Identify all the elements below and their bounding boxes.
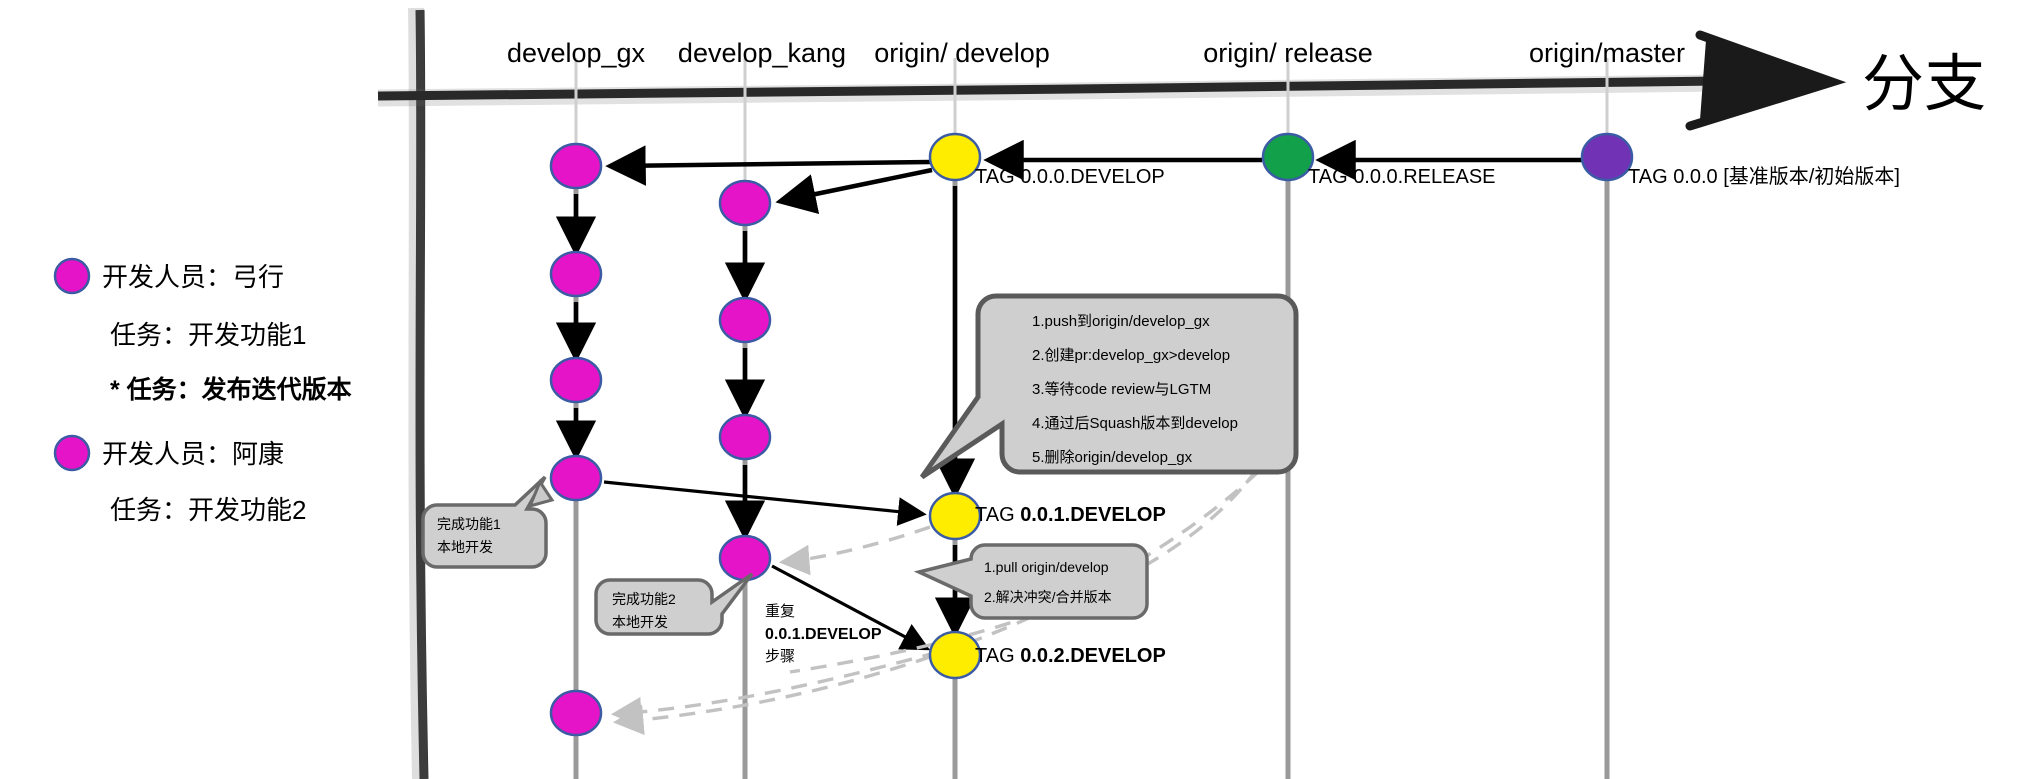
lane-label-develop-kang: develop_kang [678, 38, 846, 68]
callout-merge-line-2: 2.解决冲突/合并版本 [984, 589, 1112, 605]
repeat-note-line-2: 0.0.1.DEVELOP [765, 626, 882, 643]
node-gx-c4[interactable] [551, 456, 601, 500]
repeat-note-line-1: 重复 [765, 602, 795, 620]
repeat-note: 重复 0.0.1.DEVELOP 步骤 [765, 602, 882, 665]
node-kang-c3[interactable] [720, 415, 770, 459]
tag-label-0-0-0-develop: TAG 0.0.0.DEVELOP [975, 166, 1165, 188]
node-gx-c1[interactable] [551, 144, 601, 188]
callout-feature1-line-2: 本地开发 [437, 539, 493, 555]
tag-label-0-0-0-release: TAG 0.0.0.RELEASE [1308, 166, 1496, 188]
tag-label-0-0-0-master: TAG 0.0.0 [基准版本/初始版本] [1628, 165, 1900, 188]
legend-task-develop-kang-1: 任务：开发功能2 [110, 495, 306, 525]
callout-feature2: 完成功能2 本地开发 [596, 574, 752, 634]
diagram-canvas: 分支 develop_gx develop_kang origin/ devel… [0, 0, 2034, 779]
repeat-note-line-3: 步骤 [765, 648, 795, 665]
legend-task-develop-gx-1: 任务：开发功能1 [110, 320, 306, 350]
axis-label-branch: 分支 [1862, 50, 1986, 119]
callout-feature2-line-1: 完成功能2 [612, 591, 676, 607]
callout-pr-steps: 1.push到origin/develop_gx 2.创建pr:develop_… [922, 296, 1296, 477]
tag-label-0-0-2-develop: TAG 0.0.2.DEVELOP [975, 645, 1166, 667]
callout-feature1-line-1: 完成功能1 [437, 516, 501, 532]
lane-label-develop-gx: develop_gx [507, 38, 646, 68]
node-kang-c4[interactable] [720, 536, 770, 580]
legend: 开发人员：弓行 任务：开发功能1 * 任务：发布迭代版本 开发人员：阿康 任务：… [55, 259, 352, 525]
node-gx-c5[interactable] [551, 691, 601, 735]
node-gx-c2[interactable] [551, 252, 601, 296]
legend-dot-develop-kang [55, 436, 89, 470]
legend-title-develop-gx: 开发人员：弓行 [102, 262, 284, 292]
legend-dot-develop-gx [55, 259, 89, 293]
lane-label-origin-master: origin/master [1529, 38, 1685, 68]
node-develop-tag-000[interactable] [930, 134, 980, 180]
callout-feature1: 完成功能1 本地开发 [423, 477, 552, 567]
node-develop-tag-001[interactable] [930, 493, 980, 539]
tag-label-0-0-1-develop: TAG 0.0.1.DEVELOP [975, 504, 1166, 526]
callout-feature2-line-2: 本地开发 [612, 614, 668, 630]
node-kang-c1[interactable] [720, 181, 770, 225]
node-kang-c2[interactable] [720, 298, 770, 342]
node-gx-c3[interactable] [551, 358, 601, 402]
callout-pr-line-2: 2.创建pr:develop_gx>develop [1032, 347, 1230, 364]
git-branch-diagram: 分支 develop_gx develop_kang origin/ devel… [0, 0, 2034, 779]
callout-pr-line-4: 4.通过后Squash版本到develop [1032, 415, 1238, 432]
callout-pr-line-1: 1.push到origin/develop_gx [1032, 313, 1210, 330]
callout-pr-line-3: 3.等待code review与LGTM [1032, 380, 1211, 398]
legend-task-develop-gx-2: * 任务：发布迭代版本 [110, 375, 352, 404]
lane-label-origin-release: origin/ release [1203, 38, 1373, 68]
node-release-tag-000[interactable] [1263, 134, 1313, 180]
callout-pr-line-5: 5.删除origin/develop_gx [1032, 449, 1193, 466]
lane-label-origin-develop: origin/ develop [874, 38, 1050, 68]
callout-merge-line-1: 1.pull origin/develop [984, 559, 1109, 575]
node-master-tag-000[interactable] [1582, 134, 1632, 180]
legend-title-develop-kang: 开发人员：阿康 [102, 439, 284, 469]
node-develop-tag-002[interactable] [930, 632, 980, 678]
